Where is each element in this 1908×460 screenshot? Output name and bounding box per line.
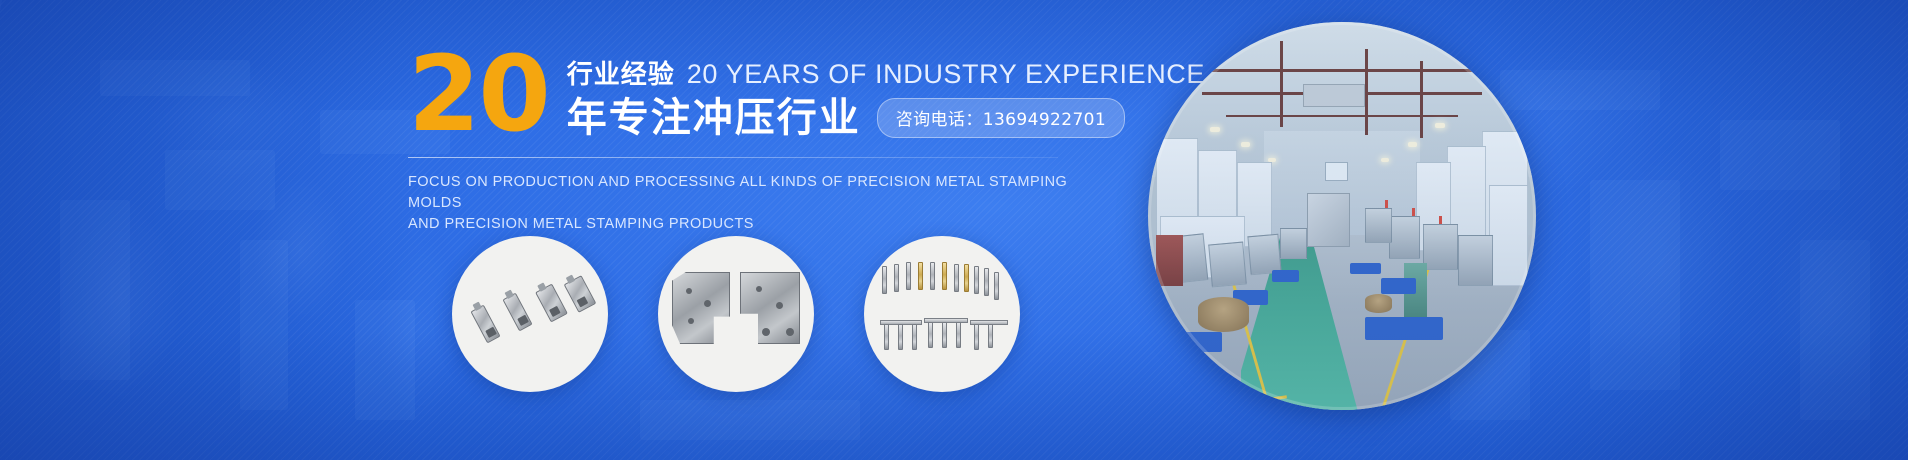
- years-number: 20: [408, 50, 549, 139]
- headline-line-1: 行业经验 20 YEARS OF INDUSTRY EXPERIENCE: [567, 54, 1205, 91]
- factory-workshop-photo: [1148, 22, 1536, 410]
- metal-terminal-pins-photo: [864, 236, 1020, 392]
- headline-line-2: 年专注冲压行业 咨询电话：13694922701: [567, 95, 1205, 141]
- cn-experience-label: 行业经验: [567, 54, 675, 91]
- en-headline: 20 YEARS OF INDUSTRY EXPERIENCE: [687, 59, 1205, 90]
- product-circle-usb-connectors: [452, 236, 608, 392]
- promo-banner: 20 行业经验 20 YEARS OF INDUSTRY EXPERIENCE …: [0, 0, 1908, 460]
- headline-text-group: 行业经验 20 YEARS OF INDUSTRY EXPERIENCE 年专注…: [567, 48, 1205, 141]
- product-circle-stamping-die: [658, 236, 814, 392]
- sub-english-copy: FOCUS ON PRODUCTION AND PROCESSING ALL K…: [408, 172, 1108, 235]
- sub-english-line-1: FOCUS ON PRODUCTION AND PROCESSING ALL K…: [408, 172, 1108, 214]
- usb-connectors-photo: [452, 236, 608, 392]
- stamping-die-photo: [658, 236, 814, 392]
- sub-english-line-2: AND PRECISION METAL STAMPING PRODUCTS: [408, 214, 1108, 235]
- headline-block: 20 行业经验 20 YEARS OF INDUSTRY EXPERIENCE …: [408, 48, 1108, 235]
- cn-headline: 年专注冲压行业: [567, 95, 861, 141]
- headline-divider: [408, 157, 1058, 158]
- headline-row: 20 行业经验 20 YEARS OF INDUSTRY EXPERIENCE …: [408, 48, 1108, 141]
- phone-badge[interactable]: 咨询电话：13694922701: [877, 98, 1125, 138]
- product-circle-terminal-pins: [864, 236, 1020, 392]
